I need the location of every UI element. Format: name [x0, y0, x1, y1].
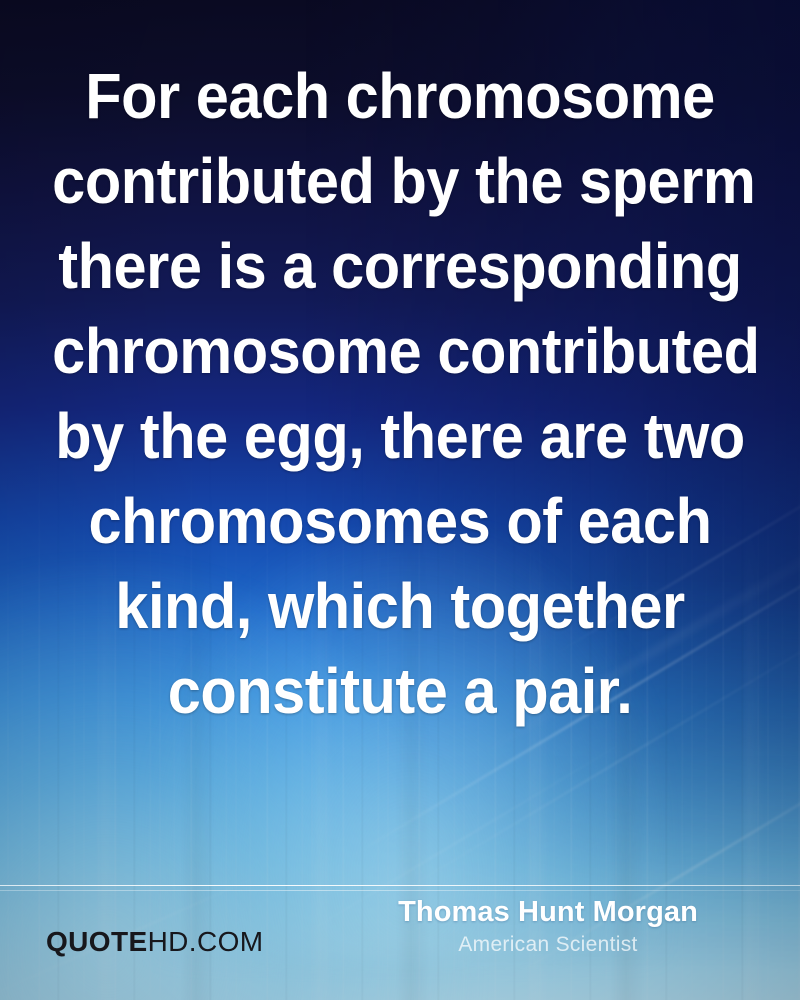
quote-line: contributed by the sperm: [52, 139, 748, 224]
quote-line: chromosome contributed: [52, 309, 748, 394]
quotehd-logo[interactable]: QUOTEHD.COM: [46, 928, 264, 956]
attribution: Thomas Hunt Morgan American Scientist: [338, 895, 758, 959]
author-name: Thomas Hunt Morgan: [338, 895, 758, 929]
quote-line: there is a corresponding: [52, 224, 748, 309]
quote-line: by the egg, there are two: [52, 394, 748, 479]
quote-text: For each chromosome contributed by the s…: [0, 54, 800, 734]
logo-light-part: HD.COM: [148, 926, 264, 957]
logo-bold-part: QUOTE: [46, 926, 148, 957]
quote-line: chromosomes of each: [52, 479, 748, 564]
quote-line: For each chromosome: [52, 54, 748, 139]
footer-divider: [0, 885, 800, 886]
footer-divider-secondary: [0, 890, 800, 891]
quote-line: kind, which together: [52, 564, 748, 649]
quote-line: constitute a pair.: [52, 649, 748, 734]
author-descriptor: American Scientist: [338, 931, 758, 959]
quote-card: For each chromosome contributed by the s…: [0, 0, 800, 1000]
